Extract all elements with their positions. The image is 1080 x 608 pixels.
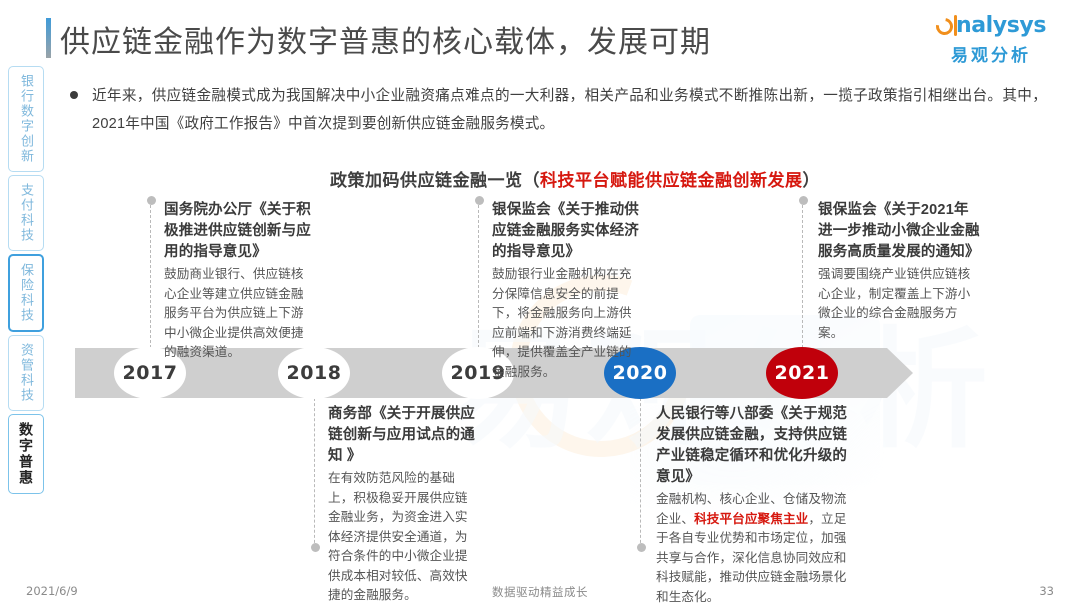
connector-2019: [478, 200, 479, 348]
intro-paragraph: 近年来，供应链金融模式成为我国解决中小企业融资痛点难点的一大利器，相关产品和业务…: [92, 82, 1047, 138]
chart-caption-paren-close: ）: [803, 171, 821, 190]
sidebar-item-asset-management-tech[interactable]: 资管科技: [8, 335, 44, 411]
policy-card-body: 强调要围绕产业链供应链核心企业，制定覆盖上下游小微企业的综合金融服务方案。: [818, 265, 980, 343]
logo-word: nalysys: [956, 14, 1046, 38]
policy-card-heading: 银保监会《关于推动供应链金融服务实体经济的指导意见》: [492, 200, 644, 263]
sidebar-item-label: 数字普惠: [18, 422, 34, 486]
slide-footer: 2021/6/9 数据驱动精益成长 33: [0, 584, 1080, 600]
timeline-node-label: 2017: [123, 362, 178, 384]
policy-card-2019: 银保监会《关于推动供应链金融服务实体经济的指导意见》 鼓励银行业金融机构在充分保…: [492, 200, 644, 382]
policy-card-2020: 人民银行等八部委《关于规范发展供应链金融，支持供应链产业链稳定循环和优化升级的意…: [656, 404, 852, 607]
bullet-point-icon: [70, 91, 78, 99]
slide-canvas: 易观分析 供应链金融作为数字普惠的核心载体，发展可期 nalysys 易观分析 …: [0, 0, 1080, 608]
logo-a-mark-icon: [936, 15, 959, 38]
connector-2017: [150, 200, 151, 348]
sidebar-item-payment-tech[interactable]: 支付科技: [8, 175, 44, 251]
chart-caption: 政策加码供应链金融一览（科技平台赋能供应链金融创新发展）: [330, 166, 820, 191]
policy-card-2017: 国务院办公厅《关于积极推进供应链创新与应用的指导意见》 鼓励商业银行、供应链核心…: [164, 200, 316, 363]
sidebar-item-bank-digital-innovation[interactable]: 银行数字创新: [8, 66, 44, 172]
sidebar-item-label: 资管科技: [18, 343, 34, 403]
logo-chinese-name: 易观分析: [926, 41, 1056, 66]
brand-logo: nalysys 易观分析: [926, 12, 1056, 64]
footer-page-number: 33: [1039, 584, 1054, 598]
chart-caption-main: 政策加码供应链金融一览: [330, 171, 523, 190]
page-title: 供应链金融作为数字普惠的核心载体，发展可期: [60, 17, 711, 61]
policy-card-heading: 国务院办公厅《关于积极推进供应链创新与应用的指导意见》: [164, 200, 316, 263]
policy-card-body: 鼓励商业银行、供应链核心企业等建立供应链金融服务平台为供应链上下游中小微企业提供…: [164, 265, 316, 363]
sidebar-item-insurance-tech[interactable]: 保险科技: [8, 254, 44, 332]
timeline-arrow-icon: [887, 348, 913, 398]
footer-slogan: 数据驱动精益成长: [0, 584, 1080, 600]
policy-card-heading: 商务部《关于开展供应链创新与应用试点的通知 》: [328, 404, 480, 467]
sidebar-item-label: 支付科技: [18, 183, 34, 243]
sidebar-tabs: 银行数字创新 支付科技 保险科技 资管科技 数字普惠: [8, 66, 44, 497]
chart-caption-highlight: 科技平台赋能供应链金融创新发展: [540, 171, 803, 190]
title-accent-bar: [46, 18, 51, 58]
policy-card-body-highlight: 科技平台应聚焦主业: [694, 512, 808, 526]
connector-2021: [802, 200, 803, 348]
policy-card-heading: 银保监会《关于2021年进一步推动小微企业金融服务高质量发展的通知》: [818, 200, 980, 263]
sidebar-item-digital-inclusive-finance[interactable]: 数字普惠: [8, 414, 44, 494]
policy-card-body: 鼓励银行业金融机构在充分保障信息安全的前提下，将金融服务向上游供应前端和下游消费…: [492, 265, 644, 382]
connector-2020: [640, 398, 641, 548]
sidebar-item-label: 银行数字创新: [18, 74, 34, 164]
chart-caption-paren-open: （: [523, 171, 541, 190]
timeline-node-label: 2018: [287, 362, 342, 384]
sidebar-item-label: 保险科技: [18, 263, 34, 323]
timeline-node-label: 2021: [775, 362, 830, 384]
timeline-node-2021[interactable]: 2021: [766, 347, 838, 399]
connector-2018: [314, 398, 315, 548]
policy-card-2021: 银保监会《关于2021年进一步推动小微企业金融服务高质量发展的通知》 强调要围绕…: [818, 200, 980, 343]
logo-wordmark-row: nalysys: [926, 12, 1056, 40]
policy-card-2018: 商务部《关于开展供应链创新与应用试点的通知 》 在有效防范风险的基础上，积极稳妥…: [328, 404, 480, 606]
policy-card-heading: 人民银行等八部委《关于规范发展供应链金融，支持供应链产业链稳定循环和优化升级的意…: [656, 404, 852, 488]
